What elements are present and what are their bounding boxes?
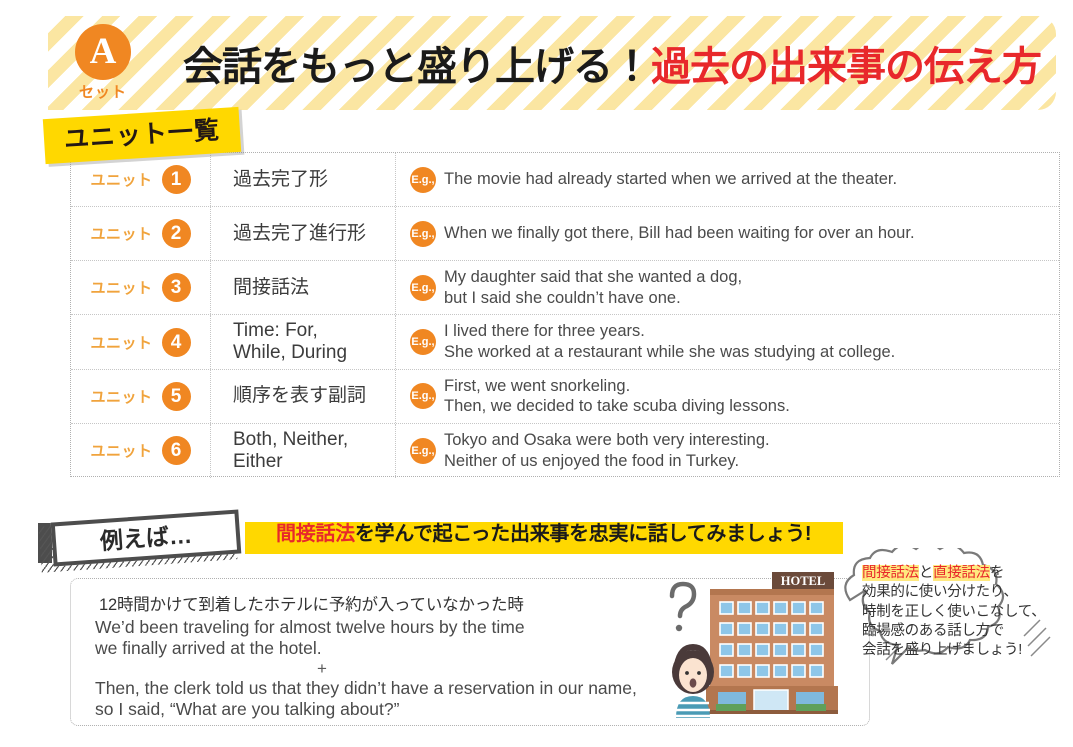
eg-badge-icon: E.g., xyxy=(410,275,436,301)
unit-example-cell: E.g., The movie had already started when… xyxy=(396,153,1059,206)
unit-number-badge: 2 xyxy=(162,219,191,248)
unit-example-text: First, we went snorkeling. Then, we deci… xyxy=(444,376,790,417)
woman-eye-right xyxy=(697,671,701,675)
unit-number-badge: 5 xyxy=(162,382,191,411)
unit-example-text: My daughter said that she wanted a dog, … xyxy=(444,267,742,308)
page-title-red: 過去の出来事の伝え方 xyxy=(651,45,1041,89)
banner-text-rest: を学んで起こった出来事を忠実に話してみましょう! xyxy=(355,523,811,545)
unit-number-cell: ユニット 2 xyxy=(71,207,211,260)
unit-word-label: ユニット xyxy=(90,277,152,298)
banner-text: 間接話法を学んで起こった出来事を忠実に話してみましょう! xyxy=(276,518,811,550)
unit-number-badge: 6 xyxy=(162,436,191,465)
unit-topic-cell: Time: For, While, During xyxy=(211,315,396,368)
page-title: 会話をもっと盛り上げる！過去の出来事の伝え方 xyxy=(183,34,1041,92)
unit-example-cell: E.g., First, we went snorkeling. Then, w… xyxy=(396,370,1059,423)
page-title-black: 会話をもっと盛り上げる！ xyxy=(183,45,651,89)
unit-topic-cell: Both, Neither, Either xyxy=(211,424,396,478)
hotel-roof-band xyxy=(710,589,834,595)
table-row: ユニット 3 間接話法 E.g., My daughter said that … xyxy=(71,261,1059,315)
table-row: ユニット 2 過去完了進行形 E.g., When we finally got… xyxy=(71,207,1059,261)
unit-example-cell: E.g., When we finally got there, Bill ha… xyxy=(396,207,1059,260)
hotel-planter-left xyxy=(716,704,746,711)
hotel-sign-text: HOTEL xyxy=(781,574,825,588)
unit-example-text: I lived there for three years. She worke… xyxy=(444,321,895,362)
table-row: ユニット 4 Time: For, While, During E.g., I … xyxy=(71,315,1059,369)
tatoeba-label: 例えば… xyxy=(55,514,237,562)
bubble-line-4: 臨場感のある話し方で xyxy=(862,622,1062,641)
woman-eye-left xyxy=(685,671,689,675)
bubble-line-3: 時制を正しく使いこなして、 xyxy=(862,603,1062,622)
set-label: セット xyxy=(64,81,142,102)
bubble-line1-wo: を xyxy=(990,565,1004,581)
eg-badge-icon: E.g., xyxy=(410,438,436,464)
speech-bubble-text: 間接話法と直接話法を 効果的に使い分けたり、 時制を正しく使いこなして、 臨場感… xyxy=(862,564,1062,660)
eg-badge-icon: E.g., xyxy=(410,167,436,193)
unit-example-text: The movie had already started when we ar… xyxy=(444,169,897,190)
unit-word-label: ユニット xyxy=(90,169,152,190)
unit-number-cell: ユニット 4 xyxy=(71,315,211,368)
table-row: ユニット 6 Both, Neither, Either E.g., Tokyo… xyxy=(71,424,1059,478)
set-letter-circle: A xyxy=(75,24,131,80)
unit-word-label: ユニット xyxy=(90,386,152,407)
eg-badge-icon: E.g., xyxy=(410,221,436,247)
unit-example-text: When we finally got there, Bill had been… xyxy=(444,223,915,244)
unit-number-cell: ユニット 3 xyxy=(71,261,211,314)
bubble-term-indirect: 間接話法 xyxy=(862,565,919,581)
unit-word-label: ユニット xyxy=(90,440,152,461)
unit-number-cell: ユニット 6 xyxy=(71,424,211,478)
table-row: ユニット 5 順序を表す副詞 E.g., First, we went snor… xyxy=(71,370,1059,424)
eg-badge-icon: E.g., xyxy=(410,383,436,409)
unit-example-cell: E.g., I lived there for three years. She… xyxy=(396,315,1059,368)
unit-topic-cell: 間接話法 xyxy=(211,261,396,314)
unit-example-text: Tokyo and Osaka were both very interesti… xyxy=(444,430,770,471)
unit-word-label: ユニット xyxy=(90,332,152,353)
banner-text-red: 間接話法 xyxy=(276,523,355,545)
bubble-line-1: 間接話法と直接話法を xyxy=(862,564,1062,583)
woman-character xyxy=(672,644,714,718)
unit-number-cell: ユニット 5 xyxy=(71,370,211,423)
hotel-planter-right xyxy=(796,704,826,711)
question-mark-icon xyxy=(672,584,694,631)
header-banner: A セット 会話をもっと盛り上げる！過去の出来事の伝え方 xyxy=(48,16,1056,110)
hotel-entrance xyxy=(754,690,788,713)
table-row: ユニット 1 過去完了形 E.g., The movie had already… xyxy=(71,153,1059,207)
unit-topic-cell: 過去完了形 xyxy=(211,153,396,206)
unit-topic-cell: 過去完了進行形 xyxy=(211,207,396,260)
unit-number-badge: 1 xyxy=(162,165,191,194)
unit-example-cell: E.g., Tokyo and Osaka were both very int… xyxy=(396,424,1059,478)
bubble-line-5: 会話を盛り上げましょう! xyxy=(862,641,1062,660)
unit-table: ユニット 1 過去完了形 E.g., The movie had already… xyxy=(70,152,1060,477)
set-badge: A セット xyxy=(64,24,142,102)
unit-topic-cell: 順序を表す副詞 xyxy=(211,370,396,423)
bubble-term-direct: 直接話法 xyxy=(933,565,990,581)
bubble-line-2: 効果的に使い分けたり、 xyxy=(862,583,1062,602)
unit-number-badge: 4 xyxy=(162,328,191,357)
woman-mouth xyxy=(690,678,697,687)
unit-word-label: ユニット xyxy=(90,223,152,244)
eg-badge-icon: E.g., xyxy=(410,329,436,355)
bubble-line1-to: と xyxy=(919,565,933,581)
header-inner: A セット 会話をもっと盛り上げる！過去の出来事の伝え方 xyxy=(48,16,1056,110)
unit-example-cell: E.g., My daughter said that she wanted a… xyxy=(396,261,1059,314)
woman-body xyxy=(676,696,710,718)
unit-number-badge: 3 xyxy=(162,273,191,302)
